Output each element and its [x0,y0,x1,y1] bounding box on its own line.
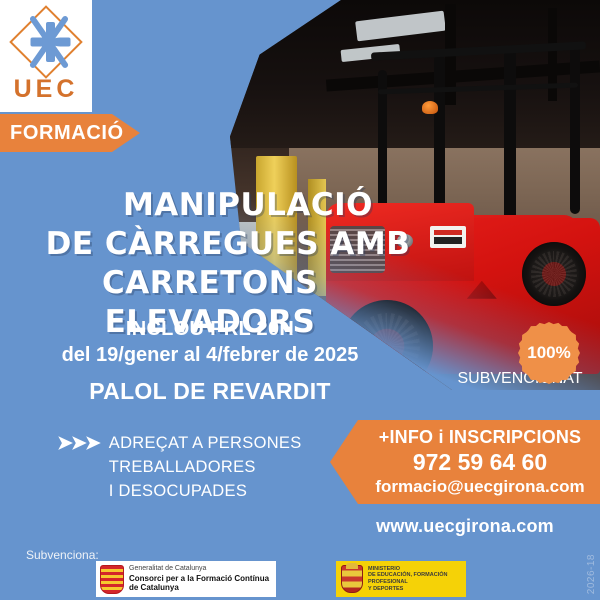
subsidy-badge: 100% [518,322,580,384]
target-audience: ➤➤➤ ADREÇAT A PERSONES TREBALLADORES I D… [57,432,302,504]
poster: UEC FORMACIÓ MANIPULACIÓ DE CÀRREGUES AM… [0,0,600,600]
ministerio-line-3: Y DEPORTES [368,586,461,593]
generalitat-line-1: Generalitat de Catalunya [129,565,269,573]
generalitat-text: Generalitat de Catalunya Consorci per a … [129,565,269,592]
contact-email[interactable]: formacio@uecgirona.com [375,477,584,497]
audience-line-3: I DESOCUPADES [109,480,302,504]
contact-box: +INFO i INSCRIPCIONS 972 59 64 60 formac… [330,420,600,504]
audience-line-1: ADREÇAT A PERSONES [109,432,302,456]
ministerio-line-2: DE EDUCACIÓN, FORMACIÓN PROFESIONAL [368,572,461,585]
spain-coat-of-arms-icon [341,565,363,593]
reference-code: 2026-18 [586,554,597,594]
audience-line-2: TREBALLADORES [109,456,302,480]
chevrons-icon: ➤➤➤ [57,432,99,453]
sponsor-label: Subvenciona: [26,548,99,562]
title-line-1: MANIPULACIÓ [0,186,420,225]
generalitat-line-2: Consorci per a la Formació Contínua [129,574,269,583]
audience-lines: ADREÇAT A PERSONES TREBALLADORES I DESOC… [109,432,302,504]
subsidy-percent: 100% [518,322,580,384]
formacio-banner: FORMACIÓ [0,114,140,152]
uec-geometric-emblem-icon [10,6,82,78]
contact-heading: +INFO i INSCRIPCIONS [379,427,582,448]
contact-phone[interactable]: 972 59 64 60 [413,449,547,476]
course-dates: del 19/gener al 4/febrer de 2025 [0,344,420,367]
website-link[interactable]: www.uecgirona.com [330,516,600,537]
title-line-2: DE CÀRREGUES AMB [0,225,420,264]
course-location: PALOL DE REVARDIT [0,378,420,405]
generalitat-line-3: de Catalunya [129,583,269,592]
formacio-label: FORMACIÓ [0,122,124,145]
ministerio-logo: MINISTERIO DE EDUCACIÓN, FORMACIÓN PROFE… [336,561,466,597]
course-includes: INCLOU PRL 20H [0,318,420,341]
ministerio-text: MINISTERIO DE EDUCACIÓN, FORMACIÓN PROFE… [368,566,461,592]
generalitat-logo: Generalitat de Catalunya Consorci per a … [96,561,276,597]
senyera-flag-icon [100,565,124,594]
uec-logo: UEC [0,0,92,112]
uec-acronym: UEC [0,75,92,104]
